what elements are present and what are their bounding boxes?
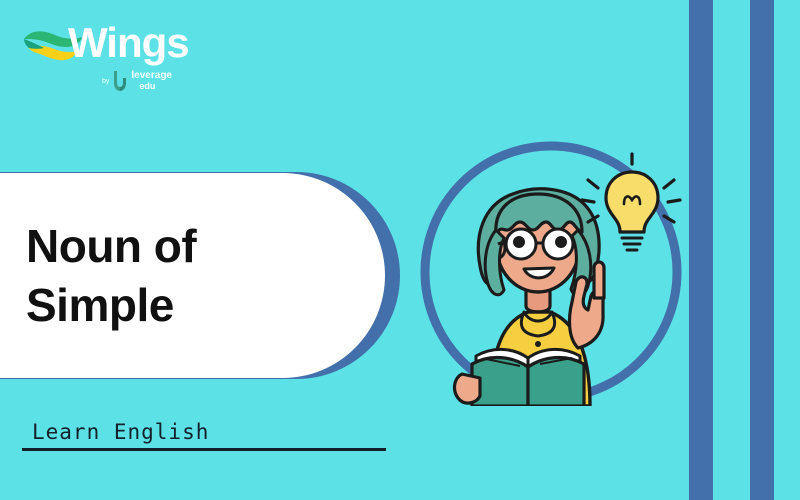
footer-caption: Learn English	[22, 420, 386, 451]
footer-rule	[22, 448, 386, 451]
footer-label: Learn English	[22, 420, 386, 444]
logo-sub-brand: by leverage edu	[102, 70, 172, 92]
illustration-reader-with-idea	[418, 138, 686, 406]
logo-wordmark: Wings	[68, 22, 189, 64]
page-title-line1: Noun of	[26, 217, 286, 276]
vertical-bar-1	[689, 0, 713, 500]
open-book	[472, 349, 584, 406]
thumbnail-canvas: Wings by leverage edu Noun of Simple Lea…	[0, 0, 800, 500]
page-title-line2: Simple	[26, 276, 286, 335]
brand-logo: Wings by leverage edu	[22, 22, 212, 102]
button-1	[535, 341, 541, 347]
character-figure	[455, 189, 604, 406]
page-title: Noun of Simple	[26, 217, 286, 335]
vertical-bar-2	[750, 0, 774, 500]
logo-sub-text: leverage edu	[131, 71, 172, 91]
logo-sub-line2: edu	[131, 82, 172, 91]
title-card: Noun of Simple	[0, 173, 385, 378]
leverage-check-icon	[112, 70, 128, 92]
logo-sub-line1: leverage	[131, 71, 172, 82]
logo-by-label: by	[102, 78, 109, 85]
index-finger	[594, 262, 604, 298]
left-hand	[455, 374, 480, 403]
